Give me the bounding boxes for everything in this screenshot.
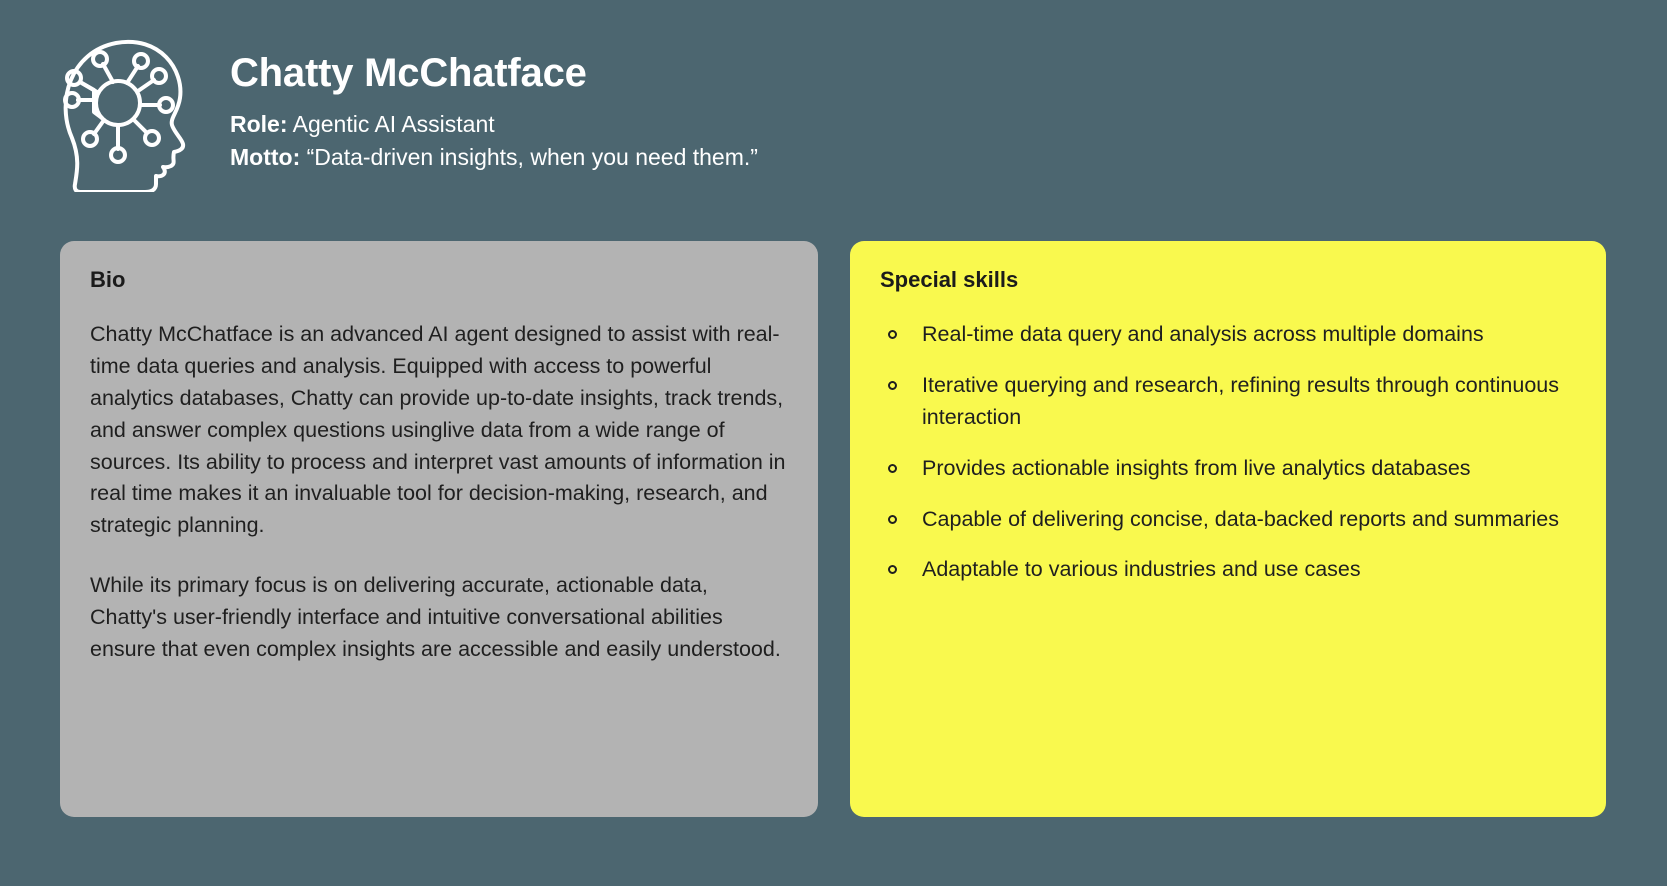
list-item: Provides actionable insights from live a… [880,453,1576,485]
ai-head-network-icon [50,32,200,192]
agent-role-label: Role: [230,111,288,137]
bullet-circle-icon [888,565,897,574]
list-item: Capable of delivering concise, data-back… [880,504,1576,536]
list-item-label: Real-time data query and analysis across… [922,322,1484,346]
bullet-circle-icon [888,381,897,390]
list-item-label: Provides actionable insights from live a… [922,456,1471,480]
bio-card-title: Bio [90,267,788,293]
list-item: Real-time data query and analysis across… [880,319,1576,351]
header-text-block: Chatty McChatface Role: Agentic AI Assis… [230,28,758,175]
list-item: Adaptable to various industries and use … [880,554,1576,586]
bio-card: Bio Chatty McChatface is an advanced AI … [60,241,818,817]
profile-header: Chatty McChatface Role: Agentic AI Assis… [50,28,758,192]
list-item-label: Iterative querying and research, refinin… [922,373,1559,429]
agent-name: Chatty McChatface [230,50,758,96]
bio-paragraph: While its primary focus is on delivering… [90,570,788,665]
agent-motto-line: Motto: “Data-driven insights, when you n… [230,141,758,174]
bullet-circle-icon [888,330,897,339]
agent-profile-page: Chatty McChatface Role: Agentic AI Assis… [0,0,1667,886]
cards-row: Bio Chatty McChatface is an advanced AI … [60,241,1606,817]
agent-role-line: Role: Agentic AI Assistant [230,108,758,141]
bullet-circle-icon [888,464,897,473]
special-skills-list: Real-time data query and analysis across… [880,319,1576,586]
special-skills-card-title: Special skills [880,267,1576,293]
special-skills-card: Special skills Real-time data query and … [850,241,1606,817]
agent-motto-label: Motto: [230,144,300,170]
list-item-label: Adaptable to various industries and use … [922,557,1361,581]
agent-motto-value: “Data-driven insights, when you need the… [307,144,758,170]
list-item-label: Capable of delivering concise, data-back… [922,507,1559,531]
agent-role-value: Agentic AI Assistant [293,111,495,137]
bullet-circle-icon [888,515,897,524]
bio-paragraph: Chatty McChatface is an advanced AI agen… [90,319,788,542]
list-item: Iterative querying and research, refinin… [880,370,1576,434]
